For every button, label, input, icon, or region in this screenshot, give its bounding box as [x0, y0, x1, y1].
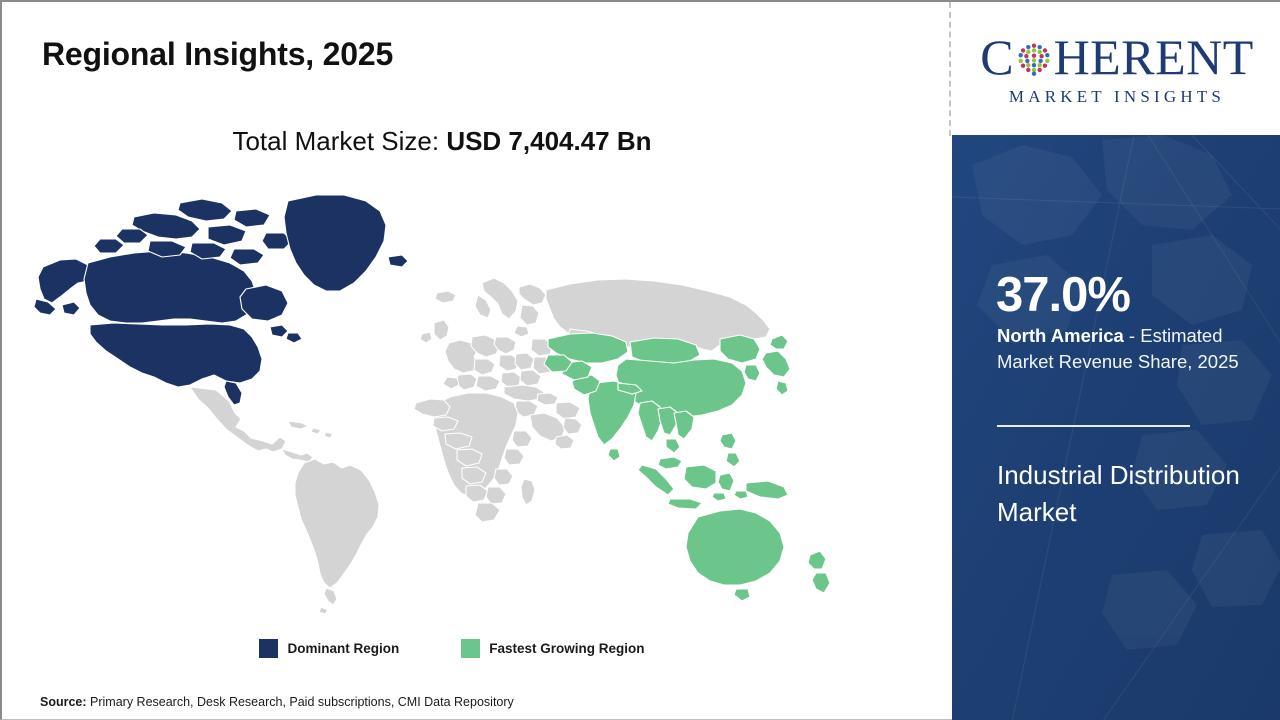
total-market-size: Total Market Size: USD 7,404.47 Bn: [2, 126, 882, 157]
legend-swatch-dominant-icon: [259, 639, 278, 658]
infographic-page: Regional Insights, 2025 Total Market Siz…: [0, 0, 1280, 720]
legend-item-fastest-growing: Fastest Growing Region: [461, 639, 644, 658]
source-note: Source: Primary Research, Desk Research,…: [40, 695, 514, 709]
source-label: Source:: [40, 695, 87, 709]
vertical-dashed-separator: [949, 2, 951, 136]
legend-label-dominant: Dominant Region: [287, 641, 399, 656]
source-text: Primary Research, Desk Research, Paid su…: [87, 695, 514, 709]
brand-logo: C: [952, 2, 1280, 135]
panel-divider: [997, 425, 1190, 427]
logo-tagline: MARKET INSIGHTS: [1009, 87, 1225, 107]
stat-description: North America - Estimated Market Revenue…: [997, 323, 1267, 376]
world-map-svg: [30, 187, 850, 617]
legend-swatch-fastest-growing-icon: [461, 639, 480, 658]
world-map: [30, 187, 850, 617]
legend-item-dominant: Dominant Region: [259, 639, 399, 658]
legend-label-fastest-growing: Fastest Growing Region: [489, 641, 644, 656]
logo-wordmark: C: [980, 31, 1254, 83]
left-content-pane: Regional Insights, 2025 Total Market Siz…: [2, 2, 950, 720]
logo-wordmark-rest: HERENT: [1054, 32, 1254, 82]
map-region-asia-pacific: [544, 333, 830, 601]
market-size-value: USD 7,404.47 Bn: [446, 126, 651, 156]
page-title: Regional Insights, 2025: [42, 36, 393, 73]
stat-panel-content: 37.0% North America - Estimated Market R…: [952, 135, 1280, 720]
map-region-north-america: [34, 195, 408, 405]
right-sidebar: C: [952, 2, 1280, 720]
market-name: Industrial Distribution Market: [997, 457, 1242, 531]
stat-percentage: 37.0%: [996, 271, 1130, 320]
market-size-label: Total Market Size:: [232, 126, 446, 156]
stat-region-name: North America: [997, 325, 1124, 346]
map-legend: Dominant Region Fastest Growing Region: [2, 639, 902, 658]
globe-dots-icon: [1015, 40, 1053, 78]
stat-panel: 37.0% North America - Estimated Market R…: [952, 135, 1280, 720]
logo-letter-c: C: [980, 32, 1013, 82]
